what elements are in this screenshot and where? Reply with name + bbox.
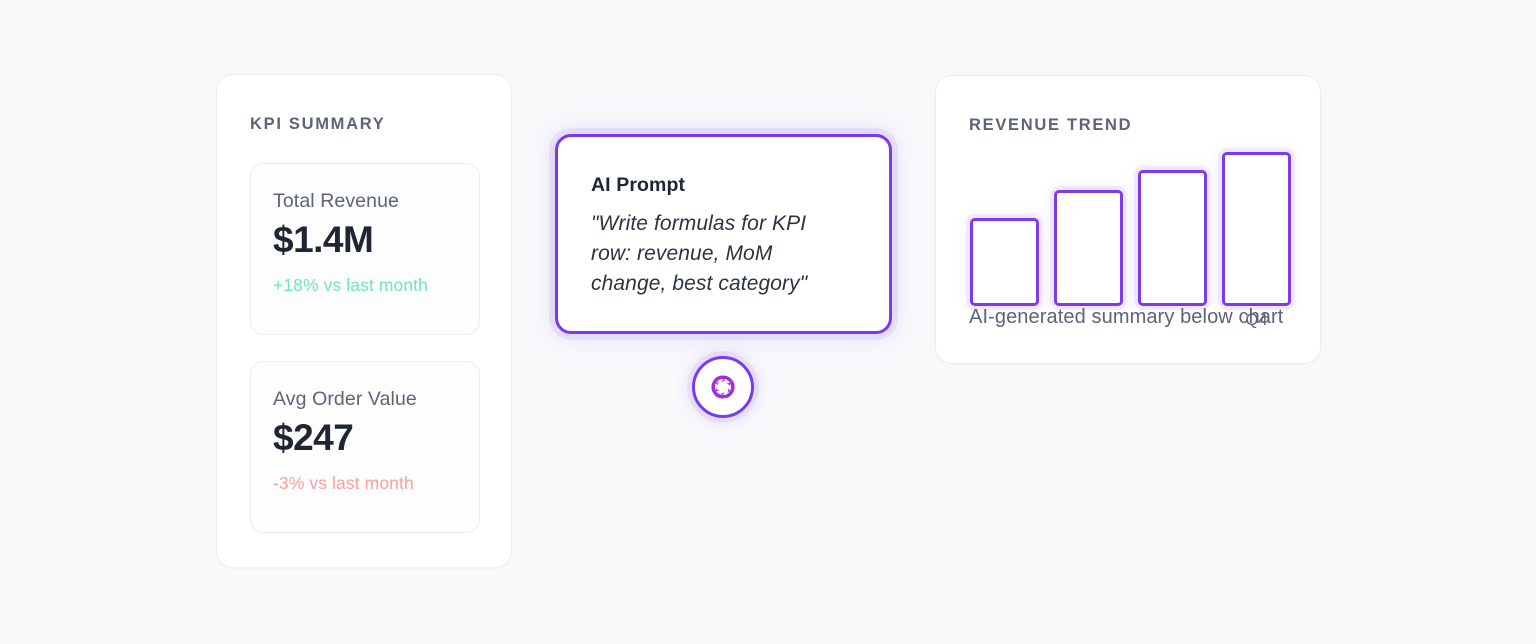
kpi-delta-negative: -3% vs last month xyxy=(273,473,414,494)
openai-badge-button[interactable] xyxy=(692,356,754,418)
revenue-trend-caption: AI-generated summary below chart xyxy=(969,306,1283,329)
kpi-summary-card: KPI SUMMARY Total Revenue $1.4M +18% vs … xyxy=(216,74,512,568)
chart-bar xyxy=(1138,170,1207,306)
kpi-label: Avg Order Value xyxy=(273,388,417,411)
ai-prompt-text: "Write formulas for KPI row: revenue, Mo… xyxy=(591,209,836,299)
kpi-summary-title: KPI SUMMARY xyxy=(250,115,385,134)
kpi-value: $1.4M xyxy=(273,219,373,261)
chart-bar xyxy=(1054,190,1123,306)
revenue-trend-card: REVENUE TREND Q4 AI-generated summary be… xyxy=(935,75,1321,364)
ai-prompt-card[interactable]: AI Prompt "Write formulas for KPI row: r… xyxy=(555,134,892,334)
openai-swirl-icon xyxy=(706,370,740,404)
kpi-delta-positive: +18% vs last month xyxy=(273,275,428,296)
kpi-tile-avg-order-value[interactable]: Avg Order Value $247 -3% vs last month xyxy=(250,361,480,533)
kpi-label: Total Revenue xyxy=(273,190,399,213)
dashboard-canvas: KPI SUMMARY Total Revenue $1.4M +18% vs … xyxy=(0,0,1536,644)
revenue-bar-chart: Q4 xyxy=(970,131,1290,331)
chart-bar xyxy=(970,218,1039,306)
ai-prompt-heading: AI Prompt xyxy=(591,174,685,197)
kpi-tile-total-revenue[interactable]: Total Revenue $1.4M +18% vs last month xyxy=(250,163,480,335)
chart-bar xyxy=(1222,152,1291,306)
kpi-value: $247 xyxy=(273,417,353,459)
